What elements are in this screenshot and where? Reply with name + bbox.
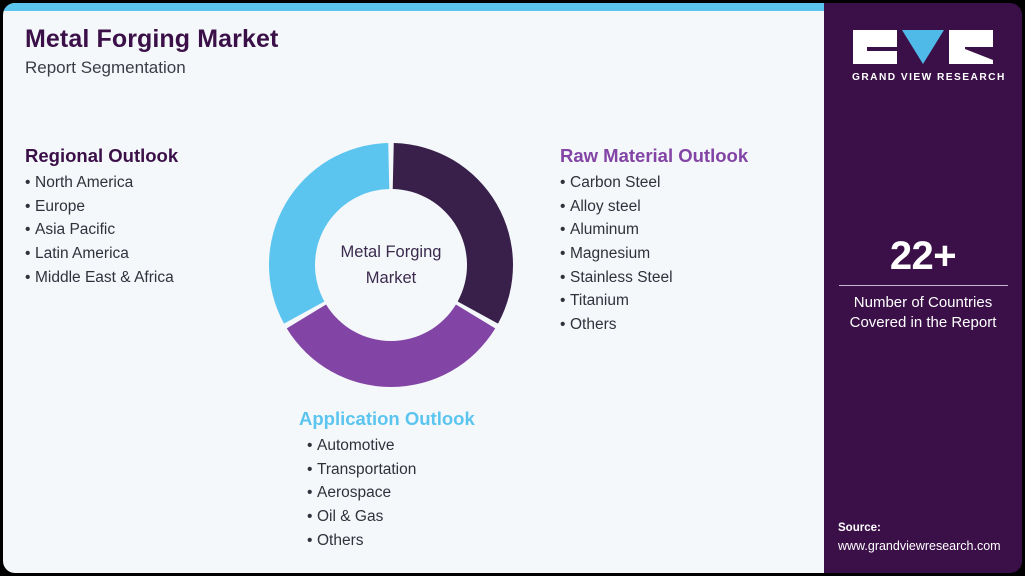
bullet-icon: • [560, 171, 570, 195]
raw-material-outlook-heading: Raw Material Outlook [560, 145, 748, 166]
list-item-label: Middle East & Africa [35, 269, 174, 286]
list-item-label: North America [35, 174, 133, 191]
source-label: Source: [838, 520, 1018, 537]
list-item: •Alloy steel [560, 195, 748, 219]
list-item-label: Titanium [570, 292, 629, 309]
bullet-icon: • [307, 481, 317, 505]
list-item: •North America [25, 171, 178, 195]
list-item-label: Magnesium [570, 245, 650, 262]
bullet-icon: • [25, 195, 35, 219]
stat-label-line-1: Number of Countries [838, 293, 1008, 313]
stat-value: 22+ [838, 235, 1008, 277]
regional-outlook-list: •North America •Europe •Asia Pacific •La… [25, 171, 178, 289]
list-item-label: Latin America [35, 245, 129, 262]
raw-material-outlook-section: Raw Material Outlook •Carbon Steel •Allo… [560, 145, 748, 336]
raw-material-outlook-list: •Carbon Steel •Alloy steel •Aluminum •Ma… [560, 171, 748, 336]
source-block: Source: www.grandviewresearch.com [838, 520, 1018, 555]
donut-segment [393, 143, 513, 324]
regional-outlook-section: Regional Outlook •North America •Europe … [25, 145, 178, 289]
application-outlook-list: •Automotive •Transportation •Aerospace •… [299, 434, 475, 552]
list-item: •Latin America [25, 242, 178, 266]
bullet-icon: • [25, 242, 35, 266]
application-outlook-section: Application Outlook •Automotive •Transpo… [299, 408, 475, 552]
list-item: •Aerospace [307, 481, 475, 505]
list-item-label: Oil & Gas [317, 508, 383, 525]
list-item: •Automotive [307, 434, 475, 458]
bullet-icon: • [560, 242, 570, 266]
list-item-label: Transportation [317, 461, 416, 478]
list-item-label: Europe [35, 198, 85, 215]
list-item-label: Others [317, 532, 364, 549]
logo-v-triangle-icon [902, 30, 944, 64]
application-outlook-heading: Application Outlook [299, 408, 475, 429]
donut-chart-svg [267, 141, 515, 389]
donut-segment [269, 143, 389, 324]
donut-segment [287, 304, 495, 387]
list-item: •Asia Pacific [25, 218, 178, 242]
logo-marks [852, 30, 994, 64]
list-item-label: Aluminum [570, 221, 639, 238]
bullet-icon: • [25, 266, 35, 290]
bullet-icon: • [560, 289, 570, 313]
bullet-icon: • [560, 218, 570, 242]
list-item: •Transportation [307, 458, 475, 482]
list-item-label: Stainless Steel [570, 269, 673, 286]
list-item-label: Carbon Steel [570, 174, 660, 191]
list-item-label: Aerospace [317, 484, 391, 501]
header: Metal Forging Market Report Segmentation [25, 25, 278, 78]
bullet-icon: • [307, 529, 317, 553]
bullet-icon: • [25, 218, 35, 242]
brand-sidebar: GRAND VIEW RESEARCH 22+ Number of Countr… [824, 3, 1022, 573]
grand-view-research-logo: GRAND VIEW RESEARCH [852, 30, 994, 83]
bullet-icon: • [307, 458, 317, 482]
list-item: •Magnesium [560, 242, 748, 266]
logo-wordmark: GRAND VIEW RESEARCH [852, 72, 994, 83]
list-item: •Others [307, 529, 475, 553]
list-item: •Titanium [560, 289, 748, 313]
source-url[interactable]: www.grandviewresearch.com [838, 537, 1018, 555]
regional-outlook-heading: Regional Outlook [25, 145, 178, 166]
bullet-icon: • [25, 171, 35, 195]
page-title: Metal Forging Market [25, 25, 278, 53]
countries-stat-block: 22+ Number of Countries Covered in the R… [838, 235, 1008, 333]
bullet-icon: • [307, 434, 317, 458]
list-item: •Stainless Steel [560, 266, 748, 290]
list-item-label: Automotive [317, 437, 395, 454]
stat-divider [839, 285, 1008, 286]
bullet-icon: • [560, 266, 570, 290]
donut-chart: Metal Forging Market [267, 141, 515, 389]
infographic-poster: Metal Forging Market Report Segmentation… [0, 0, 1025, 576]
bullet-icon: • [560, 195, 570, 219]
logo-r-icon [949, 30, 993, 64]
list-item: •Europe [25, 195, 178, 219]
stat-label-line-2: Covered in the Report [838, 313, 1008, 333]
logo-g-icon [853, 30, 897, 64]
list-item-label: Alloy steel [570, 198, 641, 215]
list-item: •Oil & Gas [307, 505, 475, 529]
list-item-label: Others [570, 316, 617, 333]
list-item: •Aluminum [560, 218, 748, 242]
top-accent-bar [3, 3, 824, 11]
list-item: •Middle East & Africa [25, 266, 178, 290]
bullet-icon: • [307, 505, 317, 529]
list-item-label: Asia Pacific [35, 221, 115, 238]
page-subtitle: Report Segmentation [25, 59, 278, 78]
list-item: •Others [560, 313, 748, 337]
main-content-panel: Metal Forging Market Report Segmentation… [3, 3, 824, 573]
stat-label: Number of Countries Covered in the Repor… [838, 293, 1008, 333]
list-item: •Carbon Steel [560, 171, 748, 195]
bullet-icon: • [560, 313, 570, 337]
